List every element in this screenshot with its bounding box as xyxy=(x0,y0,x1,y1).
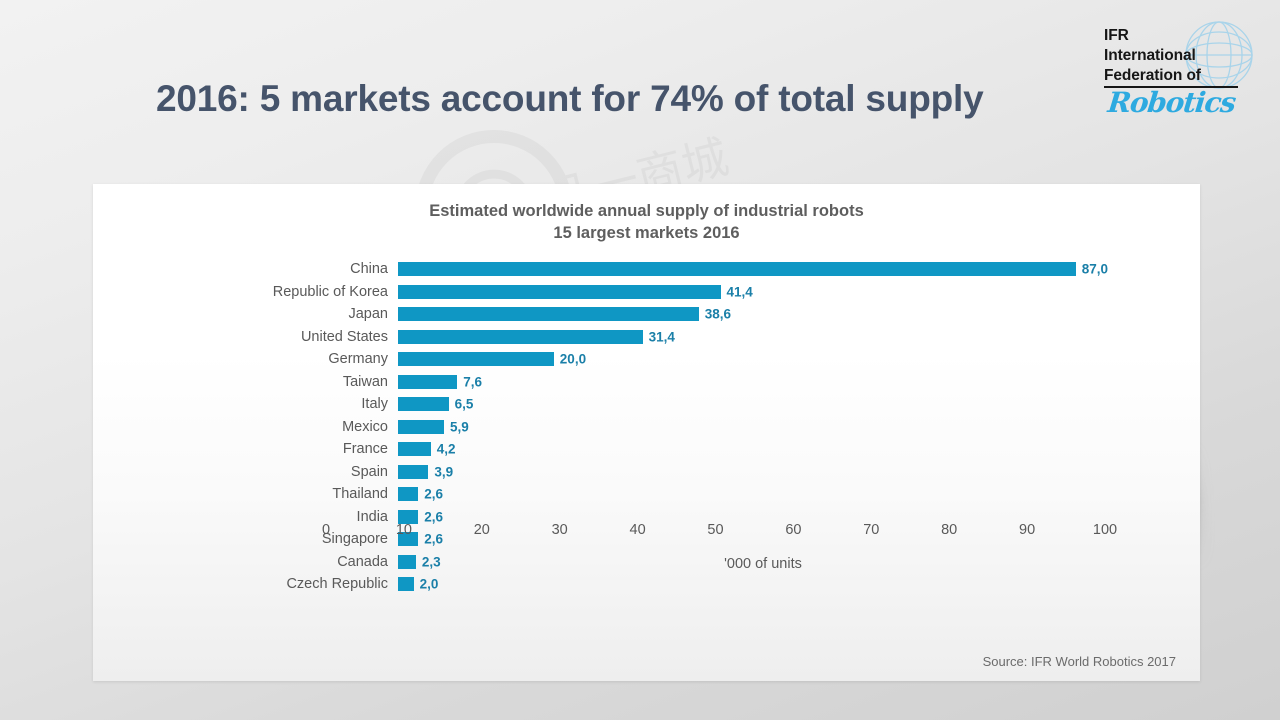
logo-script-robotics: Robotics xyxy=(1106,86,1236,119)
bar[interactable] xyxy=(398,465,428,479)
category-row: Mexico xyxy=(165,416,398,439)
bar-value-label: 38,6 xyxy=(705,307,731,322)
x-axis-ticks: 0102030405060708090100 xyxy=(326,522,1200,552)
category-row: Taiwan xyxy=(165,371,398,394)
bar[interactable] xyxy=(398,307,699,321)
bar[interactable] xyxy=(398,352,554,366)
x-axis-tick-label: 10 xyxy=(396,522,412,538)
bar[interactable] xyxy=(398,330,643,344)
bar[interactable] xyxy=(398,375,457,389)
category-row: Thailand xyxy=(165,483,398,506)
chart-panel: Estimated worldwide annual supply of ind… xyxy=(93,184,1200,681)
category-row: Japan xyxy=(165,303,398,326)
bar-value-label: 87,0 xyxy=(1082,262,1108,277)
bar-value-label: 31,4 xyxy=(649,329,675,344)
category-label: Taiwan xyxy=(343,374,388,390)
x-axis-tick-label: 60 xyxy=(785,522,801,538)
bar[interactable] xyxy=(398,487,418,501)
category-row: Republic of Korea xyxy=(165,281,398,304)
x-axis-title: '000 of units xyxy=(326,556,1200,572)
bar-row[interactable]: 6,5 xyxy=(398,393,1177,416)
bar-row[interactable]: 2,0 xyxy=(398,573,1177,596)
x-axis-tick-label: 30 xyxy=(552,522,568,538)
category-row: Czech Republic xyxy=(165,573,398,596)
bar-row[interactable]: 2,6 xyxy=(398,483,1177,506)
category-label: Japan xyxy=(348,306,388,322)
bar-row[interactable]: 20,0 xyxy=(398,348,1177,371)
x-axis-tick-label: 80 xyxy=(941,522,957,538)
category-label: Republic of Korea xyxy=(273,284,388,300)
x-axis-tick-label: 90 xyxy=(1019,522,1035,538)
chart-title-line2: 15 largest markets 2016 xyxy=(93,222,1200,244)
bar-row[interactable]: 87,0 xyxy=(398,258,1177,281)
bar-value-label: 6,5 xyxy=(455,397,474,412)
chart-title: Estimated worldwide annual supply of ind… xyxy=(93,200,1200,245)
chart-title-line1: Estimated worldwide annual supply of ind… xyxy=(429,202,864,220)
category-label: Czech Republic xyxy=(286,576,388,592)
bar[interactable] xyxy=(398,442,431,456)
bar[interactable] xyxy=(398,285,721,299)
bar-value-label: 5,9 xyxy=(450,419,469,434)
bar-value-label: 2,0 xyxy=(420,577,439,592)
category-label: Italy xyxy=(361,396,388,412)
bar-value-label: 20,0 xyxy=(560,352,586,367)
category-row: Spain xyxy=(165,461,398,484)
category-label: Mexico xyxy=(342,419,388,435)
ifr-logo: IFR International Federation of Robotics xyxy=(1078,16,1258,120)
bar-row[interactable]: 38,6 xyxy=(398,303,1177,326)
bar-value-label: 3,9 xyxy=(434,464,453,479)
bar-value-label: 2,6 xyxy=(424,487,443,502)
category-row: United States xyxy=(165,326,398,349)
category-label: Germany xyxy=(328,351,388,367)
bar-row[interactable]: 3,9 xyxy=(398,461,1177,484)
logo-line-ifr: IFR xyxy=(1104,26,1238,46)
page-title: 2016: 5 markets account for 74% of total… xyxy=(156,78,983,120)
bar-row[interactable]: 31,4 xyxy=(398,326,1177,349)
category-label: Thailand xyxy=(332,486,388,502)
category-label: France xyxy=(343,441,388,457)
x-axis-tick-label: 20 xyxy=(474,522,490,538)
bar-row[interactable]: 5,9 xyxy=(398,416,1177,439)
category-row: Italy xyxy=(165,393,398,416)
category-label: Spain xyxy=(351,464,388,480)
bar-value-label: 41,4 xyxy=(727,284,753,299)
category-row: China xyxy=(165,258,398,281)
category-label: United States xyxy=(301,329,388,345)
logo-line-federation: Federation of xyxy=(1104,66,1238,86)
bar[interactable] xyxy=(398,577,414,591)
bar-value-label: 7,6 xyxy=(463,374,482,389)
source-note: Source: IFR World Robotics 2017 xyxy=(983,654,1176,669)
bar-row[interactable]: 4,2 xyxy=(398,438,1177,461)
bar[interactable] xyxy=(398,420,444,434)
x-axis-tick-label: 70 xyxy=(863,522,879,538)
x-axis-tick-label: 100 xyxy=(1093,522,1117,538)
category-row: France xyxy=(165,438,398,461)
bar-value-label: 4,2 xyxy=(437,442,456,457)
bar[interactable] xyxy=(398,397,449,411)
x-axis-tick-label: 50 xyxy=(707,522,723,538)
category-label: China xyxy=(350,261,388,277)
bar-row[interactable]: 41,4 xyxy=(398,281,1177,304)
category-row: Germany xyxy=(165,348,398,371)
bar[interactable] xyxy=(398,262,1076,276)
x-axis-tick-label: 0 xyxy=(322,522,330,538)
logo-line-international: International xyxy=(1104,46,1238,66)
x-axis-tick-label: 40 xyxy=(630,522,646,538)
bar-row[interactable]: 7,6 xyxy=(398,371,1177,394)
